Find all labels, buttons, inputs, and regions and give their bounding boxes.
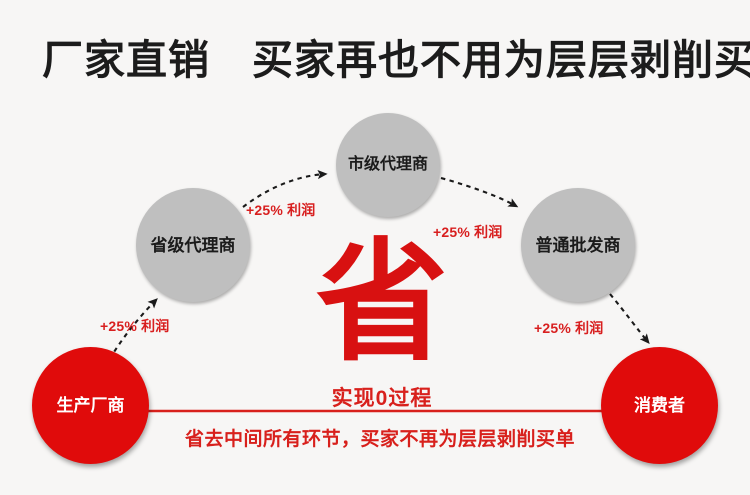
edge-label-city-to-wholesaler: +25% 利润	[433, 222, 503, 242]
node-provincial-agent[interactable]: 省级代理商	[136, 188, 250, 302]
edge-wholesaler-to-consumer	[610, 294, 648, 342]
edge-label-wholesaler-to-consumer: +25% 利润	[534, 318, 604, 338]
node-factory-label: 生产厂商	[57, 397, 125, 414]
node-factory[interactable]: 生产厂商	[32, 347, 149, 464]
infographic-canvas: 厂家直销 买家再也不用为层层剥削买单！ 省 实现0过程 省级代理商 市级代理商	[0, 0, 750, 495]
savings-subtitle: 实现0过程	[292, 382, 472, 412]
bottom-slogan: 省去中间所有环节，买家不再为层层剥削买单	[150, 424, 610, 451]
savings-character: 省	[307, 237, 457, 369]
edge-city-to-wholesaler	[441, 178, 516, 206]
edge-label-provincial-to-city: +25% 利润	[246, 200, 316, 220]
node-consumer-label: 消费者	[634, 397, 685, 414]
node-city-agent-label: 市级代理商	[348, 157, 428, 173]
node-consumer[interactable]: 消费者	[601, 347, 718, 464]
node-provincial-agent-label: 省级代理商	[151, 237, 236, 254]
node-city-agent[interactable]: 市级代理商	[336, 113, 440, 217]
node-wholesaler-label: 普通批发商	[536, 237, 621, 254]
edge-label-factory-to-provincial: +25% 利润	[100, 316, 170, 336]
node-wholesaler[interactable]: 普通批发商	[521, 188, 635, 302]
